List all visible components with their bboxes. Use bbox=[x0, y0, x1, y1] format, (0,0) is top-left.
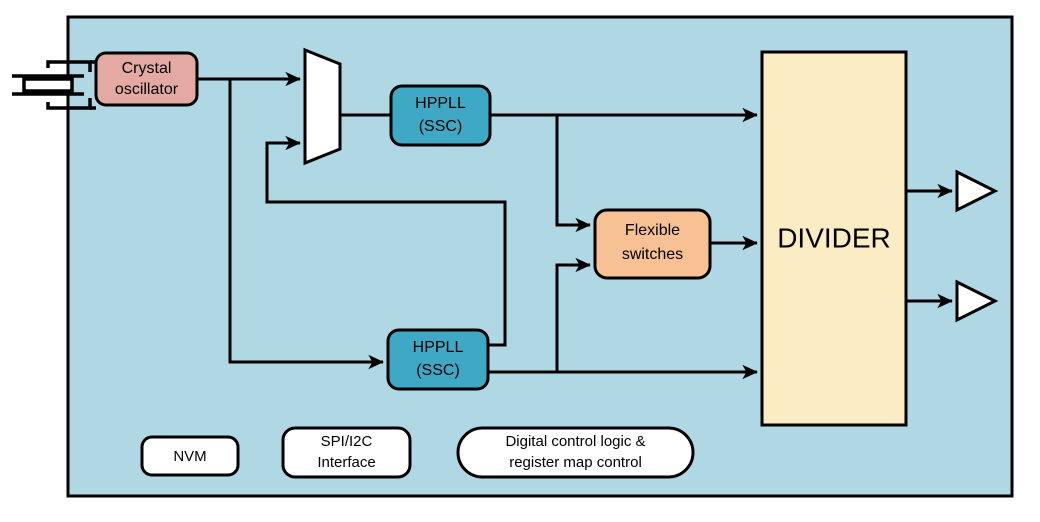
block-hppll-top[interactable]: HPPLL (SSC) bbox=[391, 86, 490, 145]
hppll-bottom-label-line2: (SSC) bbox=[416, 362, 460, 379]
hppll-bottom-label-line1: HPPLL bbox=[413, 339, 464, 356]
block-diagram-canvas: DIVIDER Crystal oscillator HPPLL (SSC) H… bbox=[0, 0, 1040, 522]
block-nvm[interactable]: NVM bbox=[142, 437, 238, 475]
flexible-switches-label-line1: Flexible bbox=[625, 222, 680, 239]
digital-control-logic-label-line1: Digital control logic & bbox=[505, 433, 645, 450]
crystal-oscillator-label-line2: oscillator bbox=[115, 81, 179, 98]
divider-label: DIVIDER bbox=[777, 222, 891, 253]
diagram-svg: DIVIDER Crystal oscillator HPPLL (SSC) H… bbox=[0, 0, 1040, 522]
digital-control-logic-label-line2: register map control bbox=[509, 454, 642, 471]
block-spi-i2c-interface[interactable]: SPI/I2C Interface bbox=[283, 428, 410, 477]
block-flexible-switches[interactable]: Flexible switches bbox=[595, 210, 710, 278]
hppll-top-label-line1: HPPLL bbox=[415, 95, 466, 112]
spi-i2c-label-line2: Interface bbox=[317, 454, 375, 471]
block-digital-control-logic[interactable]: Digital control logic & register map con… bbox=[458, 428, 693, 477]
block-divider[interactable]: DIVIDER bbox=[762, 52, 906, 425]
crystal-oscillator-label-line1: Crystal bbox=[122, 60, 172, 77]
nvm-label: NVM bbox=[173, 448, 206, 465]
block-mux[interactable] bbox=[305, 50, 340, 163]
hppll-top-label-line2: (SSC) bbox=[419, 118, 463, 135]
block-hppll-bottom[interactable]: HPPLL (SSC) bbox=[388, 330, 488, 389]
flexible-switches-label-line2: switches bbox=[622, 246, 683, 263]
block-crystal-oscillator[interactable]: Crystal oscillator bbox=[96, 53, 197, 105]
spi-i2c-label-line1: SPI/I2C bbox=[321, 433, 373, 450]
